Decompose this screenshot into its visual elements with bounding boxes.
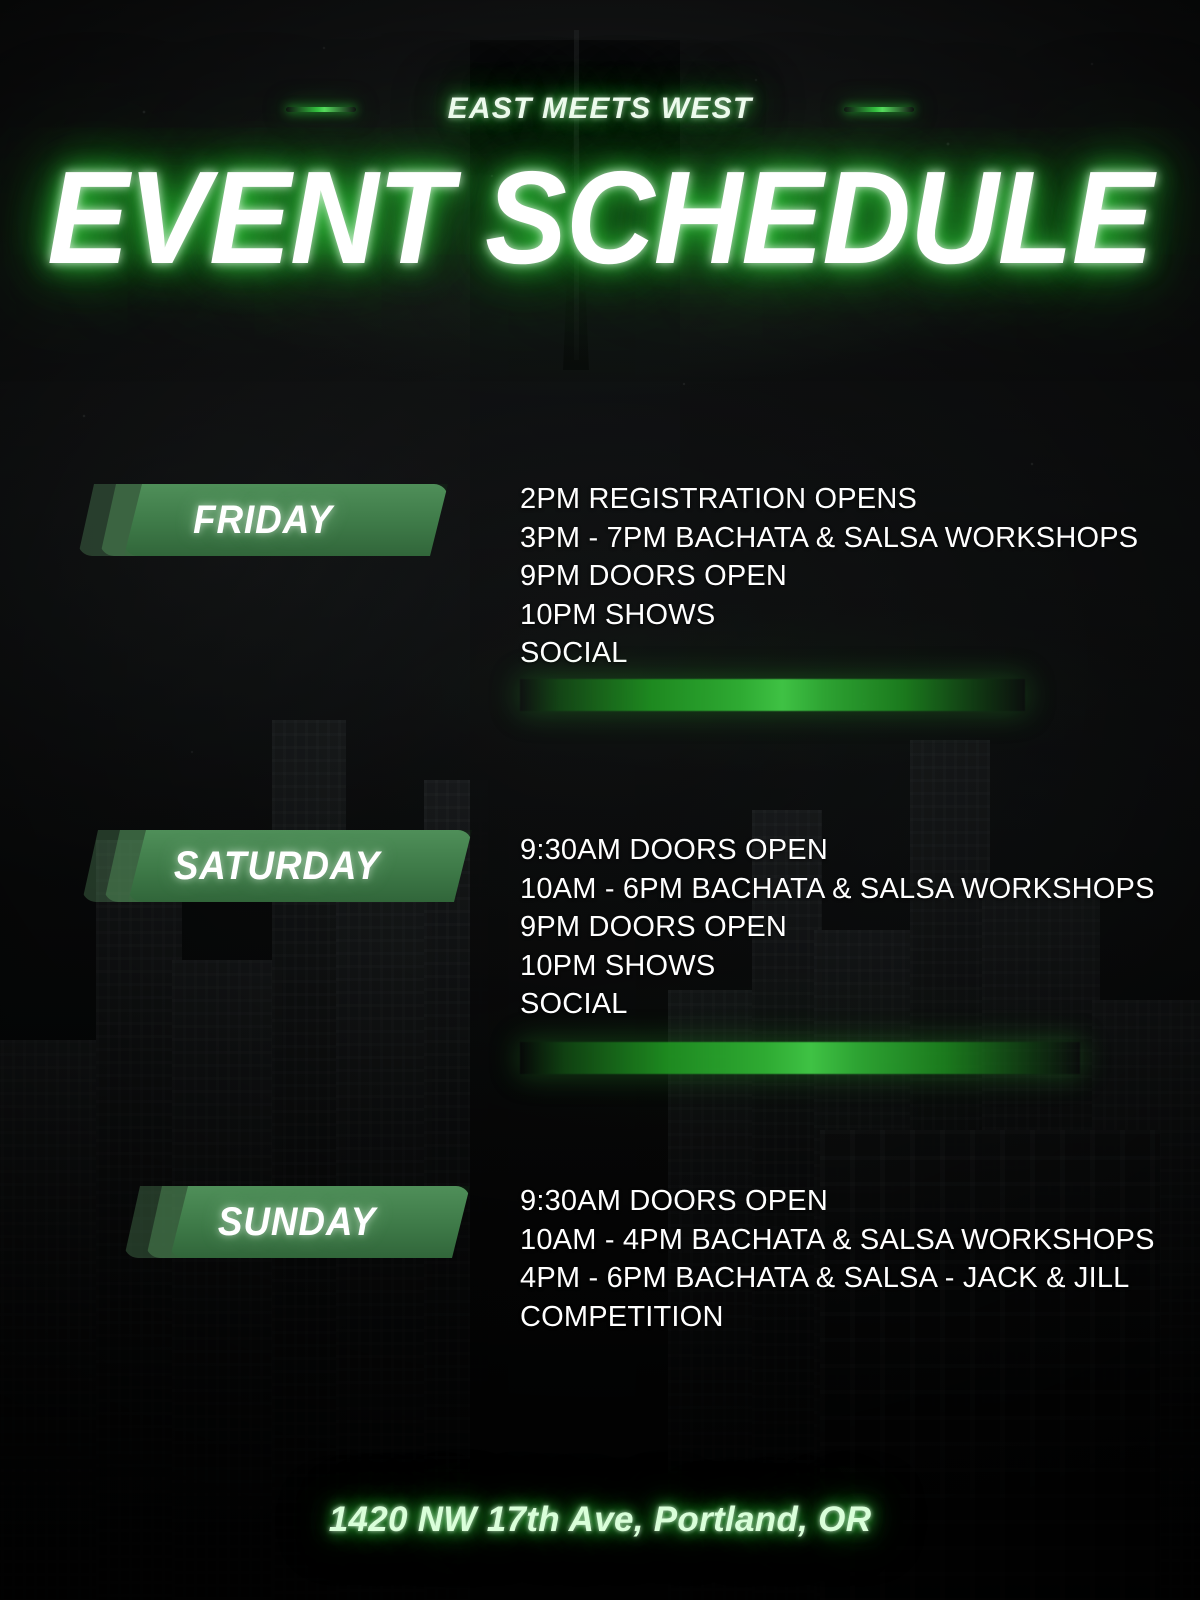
schedule-line: 4PM - 6PM BACHATA & SALSA - JACK & JILL … (520, 1259, 1140, 1336)
schedule-list-sunday: 9:30AM DOORS OPEN 10AM - 4PM BACHATA & S… (520, 1182, 1140, 1336)
schedule-line: 9:30AM DOORS OPEN (520, 831, 1155, 870)
schedule-line: 10AM - 4PM BACHATA & SALSA WORKSHOPS (520, 1221, 1140, 1260)
schedule-list-saturday: 9:30AM DOORS OPEN 10AM - 6PM BACHATA & S… (520, 831, 1155, 1024)
accent-dash-right-icon (844, 107, 914, 112)
schedule-line: 3PM - 7PM BACHATA & SALSA WORKSHOPS (520, 519, 1138, 558)
day-badge-label: SUNDAY (138, 1186, 456, 1258)
venue-address: 1420 NW 17th Ave, Portland, OR (329, 1500, 872, 1540)
page-title: EVENT SCHEDULE (42, 152, 1158, 284)
schedule-line: 9PM DOORS OPEN (520, 908, 1155, 947)
day-badge-friday: FRIDAY (78, 484, 448, 556)
schedule-line: 10PM SHOWS (520, 947, 1155, 986)
schedule-line: 9PM DOORS OPEN (520, 557, 1138, 596)
schedule-list-friday: 2PM REGISTRATION OPENS 3PM - 7PM BACHATA… (520, 480, 1138, 673)
section-divider-saturday (520, 1042, 1080, 1074)
kicker-row: EAST MEETS WEST (0, 92, 1200, 126)
day-badge-label: FRIDAY (93, 484, 433, 556)
kicker-text: EAST MEETS WEST (448, 92, 753, 126)
day-badge-label: SATURDAY (98, 830, 457, 902)
schedule-line: 2PM REGISTRATION OPENS (520, 480, 1138, 519)
section-divider-friday (520, 679, 1025, 711)
footer: 1420 NW 17th Ave, Portland, OR (0, 1500, 1200, 1540)
schedule-line: SOCIAL (520, 985, 1155, 1024)
schedule-line: SOCIAL (520, 634, 1138, 673)
schedule-line: 10PM SHOWS (520, 596, 1138, 635)
schedule-line: 9:30AM DOORS OPEN (520, 1182, 1140, 1221)
schedule-line: 10AM - 6PM BACHATA & SALSA WORKSHOPS (520, 870, 1155, 909)
event-schedule-poster: EAST MEETS WEST EVENT SCHEDULE FRIDAY 2P… (0, 0, 1200, 1600)
day-badge-sunday: SUNDAY (124, 1186, 470, 1258)
accent-dash-left-icon (286, 107, 356, 112)
day-badge-saturday: SATURDAY (82, 830, 472, 902)
